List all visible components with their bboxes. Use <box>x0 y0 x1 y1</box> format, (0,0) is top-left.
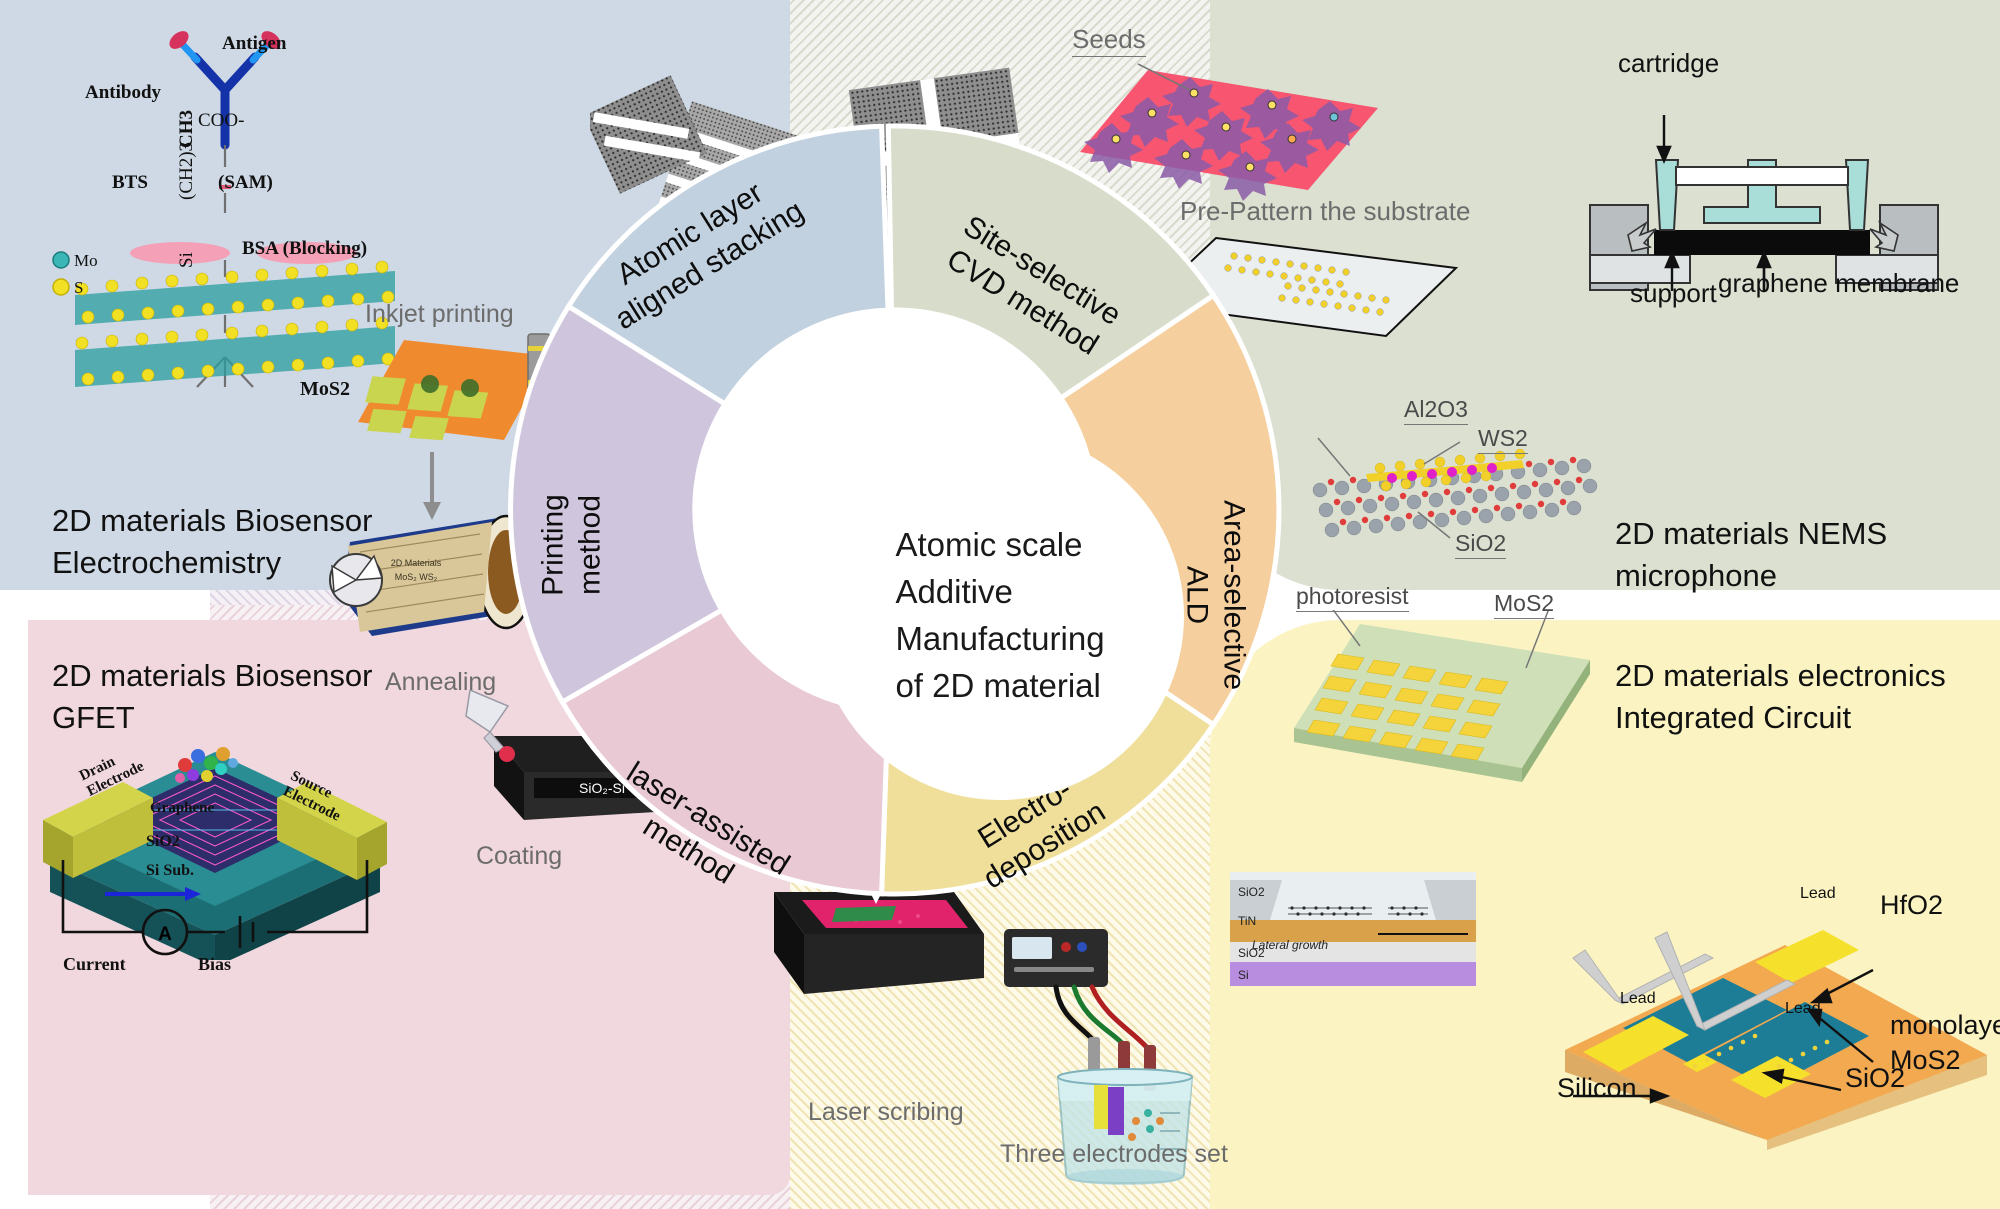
label-lead-1: Lead <box>1800 885 1836 903</box>
label-hfo2: HfO2 <box>1880 890 1943 921</box>
label-mos2-electrochem: MoS2 <box>300 378 350 401</box>
label-bsa-blocking: BSA (Blocking) <box>242 238 367 260</box>
panel-label-nems-microphone: 2D materials NEMS microphone <box>1615 513 1887 596</box>
svg-text:MoS₂ WS₂: MoS₂ WS₂ <box>395 572 438 582</box>
label-al2o3: Al2O3 <box>1404 396 1468 425</box>
wheel-hub: Atomic scale Additive Manufacturing of 2… <box>816 432 1184 800</box>
label-gfet-sio2: SiO2 <box>146 833 180 851</box>
label-ed-si: Si <box>1238 968 1249 982</box>
label-antigen: Antigen <box>222 33 286 55</box>
label-graphene-membrane: graphene membrane <box>1718 268 1959 299</box>
legend-swatches-mo-s <box>50 250 74 310</box>
label-ch2-3: (CH2)3 <box>176 142 198 200</box>
figure-nems-microphone <box>1588 95 1988 295</box>
caption-seeds: Seeds <box>1072 24 1146 57</box>
label-cartridge: cartridge <box>1618 48 1719 79</box>
label-lead-3: Lead <box>1785 1000 1821 1018</box>
svg-text:2D Materials: 2D Materials <box>391 558 442 568</box>
caption-laser-scribing: Laser scribing <box>808 1098 964 1127</box>
label-lead-2: Lead <box>1620 990 1656 1008</box>
infographic-canvas: 2D materials Biosensor Electrochemistry … <box>0 0 2000 1209</box>
label-support: support <box>1630 278 1717 309</box>
legend-label-s: S <box>74 278 83 298</box>
label-sam: (SAM) <box>218 172 273 194</box>
figure-mos2-lattice <box>70 255 400 405</box>
label-bts: BTS <box>112 172 148 194</box>
label-bias: Bias <box>198 954 231 975</box>
label-ald-sio2: SiO2 <box>1455 530 1506 559</box>
legend-label-mo: Mo <box>74 251 98 271</box>
label-ic-sio2: SiO2 <box>1845 1063 1905 1094</box>
figure-photoresist-array <box>1290 610 1600 790</box>
panel-label-integrated-circuit: 2D materials electronics Integrated Circ… <box>1615 655 1946 738</box>
label-ald-ws2: WS2 <box>1478 425 1528 454</box>
label-monolayer-mos2: monolayer MoS2 <box>1890 1008 2000 1077</box>
svg-text:A: A <box>158 924 172 945</box>
label-silicon: Silicon <box>1557 1073 1637 1104</box>
label-si: Si <box>176 252 198 268</box>
label-ald-mos2: MoS2 <box>1494 590 1554 619</box>
label-graphene: Graphene <box>150 800 214 817</box>
label-current: Current <box>63 954 126 975</box>
wheel-hub-title: Atomic scale Additive Manufacturing of 2… <box>895 522 1104 709</box>
caption-three-electrodes-set: Three electrodes set <box>1000 1140 1228 1169</box>
label-gfet-si-sub: Si Sub. <box>146 862 194 880</box>
label-coo: COO- <box>198 110 244 132</box>
figure-gfet: A <box>35 670 395 960</box>
label-antibody: Antibody <box>85 82 161 104</box>
